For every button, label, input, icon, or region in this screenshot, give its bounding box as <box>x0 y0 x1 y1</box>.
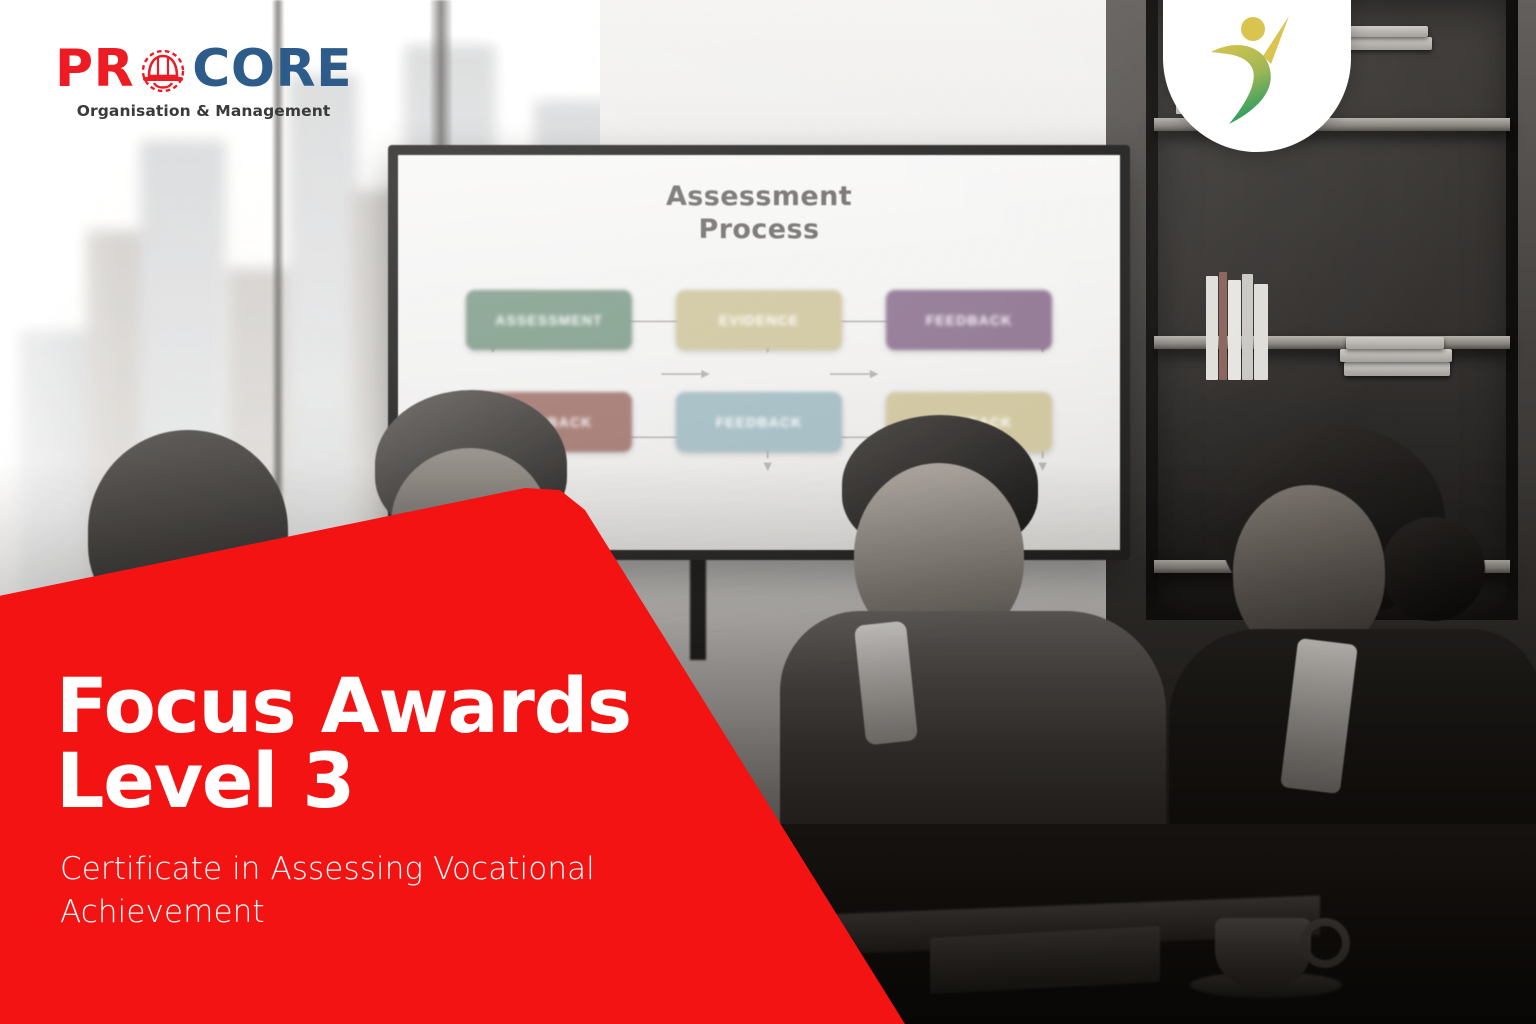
logo-text-pr: PR <box>55 43 134 95</box>
banner-title: Focus Awards Level 3 <box>56 668 756 818</box>
logo-text-core: CORE <box>192 43 352 95</box>
procore-logo[interactable]: PR CORE Organisation & Management <box>55 40 352 120</box>
banner-subtitle: Certificate in Assessing Vocational Achi… <box>60 848 750 934</box>
hard-hat-gear-icon <box>136 43 190 95</box>
promo-banner: Assessment Process <box>0 0 1536 1024</box>
banner-text-block: Focus Awards Level 3 Certificate in Asse… <box>56 668 756 934</box>
logo-tagline: Organisation & Management <box>55 102 352 120</box>
achievement-figure-icon <box>1193 12 1321 130</box>
